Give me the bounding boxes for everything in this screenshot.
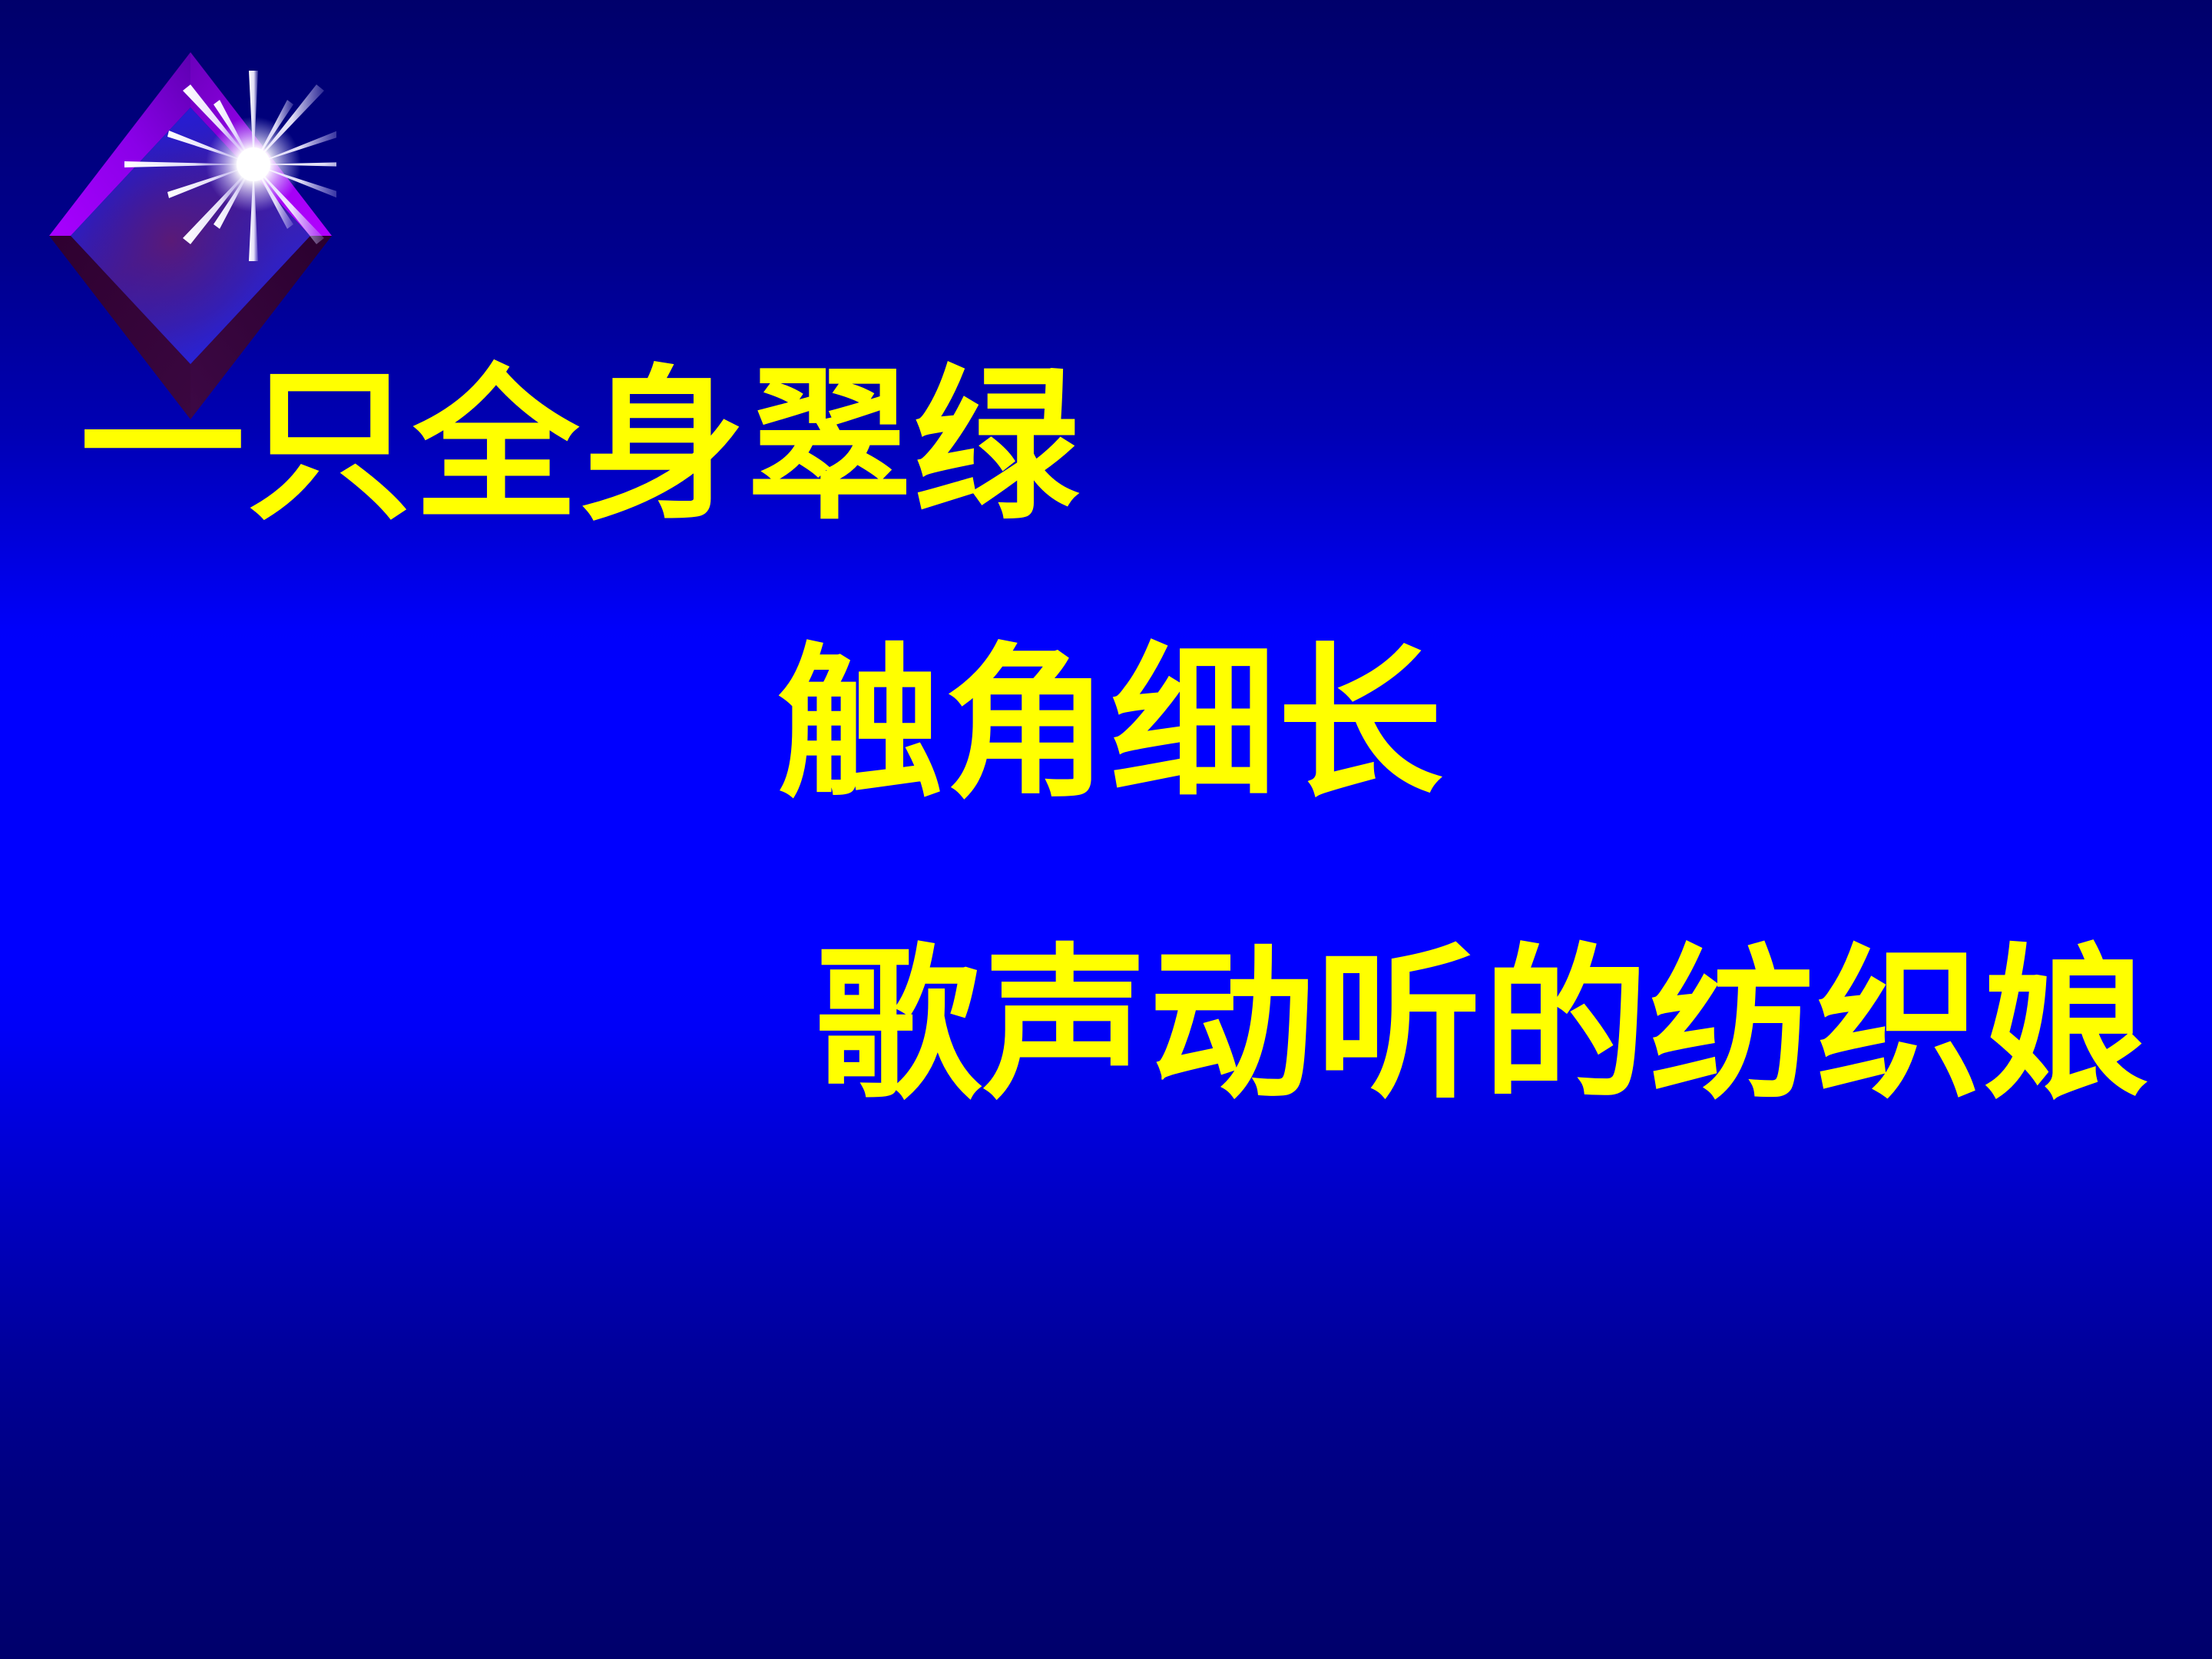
slide-text-line-2: 触角细长 bbox=[777, 637, 1445, 811]
slide-text-block: 一只全身翠绿 触角细长 歌声动听的纺织娘 bbox=[0, 0, 2212, 1659]
slide-canvas: 一只全身翠绿 触角细长 歌声动听的纺织娘 bbox=[0, 0, 2212, 1659]
slide-text-line-3: 歌声动听的纺织娘 bbox=[816, 939, 2150, 1112]
slide-text-line-1: 一只全身翠绿 bbox=[80, 359, 1081, 533]
